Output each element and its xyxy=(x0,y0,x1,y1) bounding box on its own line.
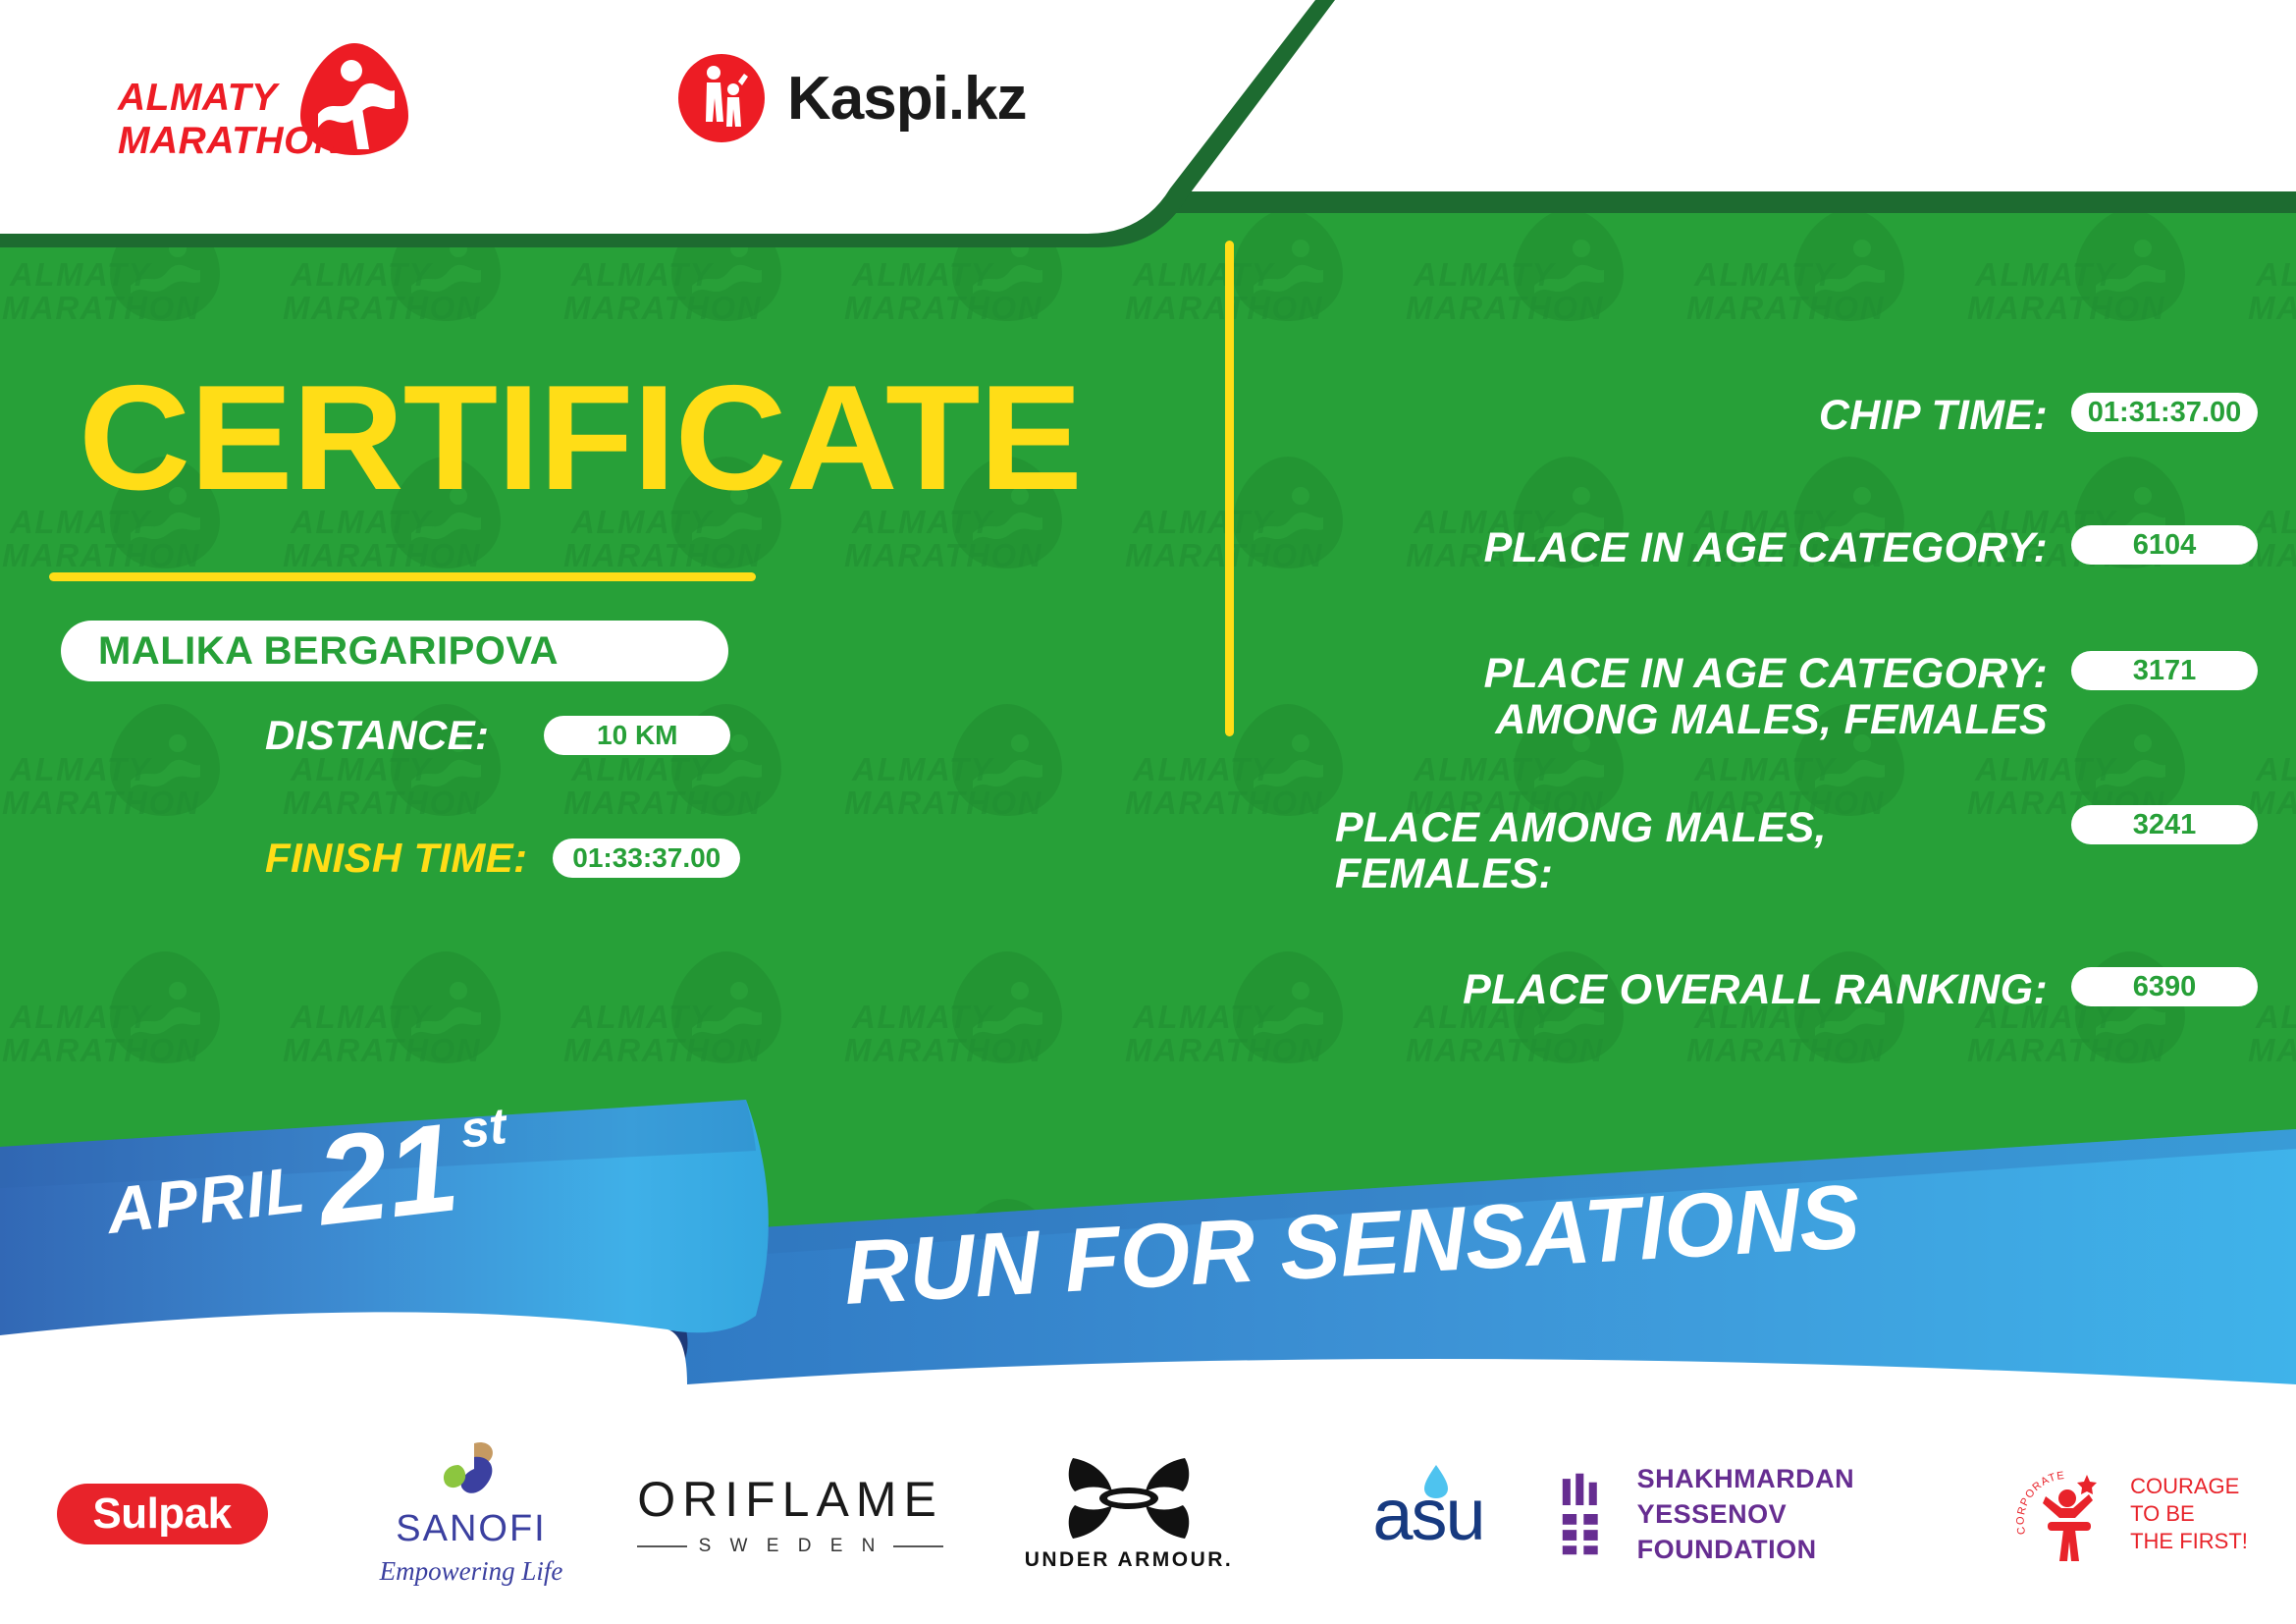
marathon-line: MARATHON xyxy=(118,120,383,163)
place-overall-label: PLACE OVERALL RANKING: xyxy=(1276,967,2071,1013)
athlete-name: MALIKA BERGARIPOVA xyxy=(98,629,559,674)
sanofi-wordmark: SANOFI xyxy=(396,1508,546,1550)
yessenov-foundation-logo: SHAKHMARDAN YESSENOV FOUNDATION xyxy=(1561,1461,1973,1567)
oriflame-wordmark: ORIFLAME xyxy=(637,1471,943,1528)
almaty-line: ALMATY xyxy=(118,77,383,120)
place-among-gender-label: PLACE AMONG MALES, FEMALES: xyxy=(1276,805,2071,897)
place-age-category-gender-row: PLACE IN AGE CATEGORY: AMONG MALES, FEMA… xyxy=(1276,651,2258,743)
divider-line-left xyxy=(637,1545,686,1547)
courage-wordmark: COURAGE TO BE THE FIRST! xyxy=(2130,1473,2248,1555)
sponsor-asu: asu xyxy=(1296,1450,1561,1578)
finish-time-value: 01:33:37.00 xyxy=(553,839,740,878)
kaspi-family-icon xyxy=(677,53,766,143)
chip-time-label: CHIP TIME: xyxy=(1276,393,2071,439)
finish-time-row: FINISH TIME: 01:33:37.00 xyxy=(265,835,740,882)
place-age-category-value: 6104 xyxy=(2071,525,2258,565)
vertical-divider xyxy=(1225,241,1234,736)
place-age-category-label: PLACE IN AGE CATEGORY: xyxy=(1276,525,2071,571)
distance-label: DISTANCE: xyxy=(265,712,489,759)
sponsor-yessenov-foundation: SHAKHMARDAN YESSENOV FOUNDATION xyxy=(1561,1450,1973,1578)
certificate-right-column: CHIP TIME: 01:31:37.00 PLACE IN AGE CATE… xyxy=(1276,191,2296,1173)
kaspi-logo: Kaspi.kz xyxy=(677,49,1027,147)
asu-droplet-icon xyxy=(1423,1465,1449,1498)
asu-logo: asu xyxy=(1372,1473,1483,1556)
under-armour-wordmark: UNDER ARMOUR. xyxy=(1025,1548,1234,1572)
under-armour-logo: UNDER ARMOUR. xyxy=(1025,1456,1234,1572)
sanofi-mark-icon xyxy=(431,1441,511,1504)
certificate-left-column: CERTIFICATE MALIKA BERGARIPOVA DISTANCE:… xyxy=(0,191,1217,1173)
sponsor-sulpak: Sulpak xyxy=(0,1450,324,1578)
under-armour-mark-icon xyxy=(1065,1456,1193,1541)
kaspi-wordmark: Kaspi.kz xyxy=(787,64,1027,134)
divider-line-right xyxy=(893,1545,942,1547)
place-among-gender-value: 3241 xyxy=(2071,805,2258,844)
courage-to-be-first-logo: CORPORATE FUND COURAGE TO BE THE FIRST! xyxy=(2012,1461,2248,1567)
yessenov-line-2: FOUNDATION xyxy=(1637,1532,1973,1567)
oriflame-sub: S W E D E N xyxy=(637,1536,943,1557)
sponsor-under-armour: UNDER ARMOUR. xyxy=(962,1450,1296,1578)
event-day: 21 xyxy=(312,1112,463,1237)
sanofi-tagline: Empowering Life xyxy=(380,1556,563,1587)
label-line-2: AMONG MALES, FEMALES xyxy=(1276,697,2048,743)
chip-time-row: CHIP TIME: 01:31:37.00 xyxy=(1276,393,2258,439)
title-underline xyxy=(49,572,756,581)
yessenov-line-1: SHAKHMARDAN YESSENOV xyxy=(1637,1461,1973,1532)
place-overall-row: PLACE OVERALL RANKING: 6390 xyxy=(1276,967,2258,1013)
sulpak-logo: Sulpak xyxy=(57,1484,268,1544)
place-age-category-gender-value: 3171 xyxy=(2071,651,2258,690)
distance-row: DISTANCE: 10 KM xyxy=(265,712,730,759)
sponsor-sanofi: SANOFI Empowering Life xyxy=(324,1450,618,1578)
chip-time-value: 01:31:37.00 xyxy=(2071,393,2258,432)
finish-time-label: FINISH TIME: xyxy=(265,835,527,882)
sponsor-oriflame: ORIFLAME S W E D E N xyxy=(618,1450,962,1578)
sponsor-bar: Sulpak SANOFI Empowering Life ORIFLAME S… xyxy=(0,1404,2296,1624)
oriflame-logo: ORIFLAME S W E D E N xyxy=(637,1471,943,1557)
courage-line-3: THE FIRST! xyxy=(2130,1528,2248,1555)
courage-line-2: TO BE xyxy=(2130,1500,2248,1528)
place-age-category-gender-label: PLACE IN AGE CATEGORY: AMONG MALES, FEMA… xyxy=(1276,651,2071,743)
certificate-page: ALMATY MARATHON AL xyxy=(0,0,2296,1624)
almaty-marathon-logo: ALMATY MARATHON xyxy=(118,39,402,162)
place-age-category-row: PLACE IN AGE CATEGORY: 6104 xyxy=(1276,525,2258,571)
header-logos: ALMATY MARATHON Kaspi.kz xyxy=(0,0,1178,192)
sponsor-courage-to-be-first: CORPORATE FUND COURAGE TO BE THE FIRST! xyxy=(1973,1450,2287,1578)
label-line-2: FEMALES: xyxy=(1335,851,2048,897)
page-title: CERTIFICATE xyxy=(79,363,1082,513)
label-line-1: PLACE AMONG MALES, xyxy=(1335,805,2048,851)
oriflame-country: S W E D E N xyxy=(699,1536,882,1557)
label-line-1: PLACE IN AGE CATEGORY: xyxy=(1276,651,2048,697)
yessenov-bars-icon xyxy=(1561,1469,1616,1559)
yessenov-wordmark: SHAKHMARDAN YESSENOV FOUNDATION xyxy=(1637,1461,1973,1567)
sanofi-logo: SANOFI Empowering Life xyxy=(380,1441,563,1587)
courage-runner-icon: CORPORATE FUND xyxy=(2012,1461,2118,1567)
place-among-gender-row: PLACE AMONG MALES, FEMALES: 3241 xyxy=(1276,805,2258,897)
almaty-marathon-wordmark: ALMATY MARATHON xyxy=(118,77,383,163)
athlete-name-pill: MALIKA BERGARIPOVA xyxy=(61,621,728,681)
distance-value: 10 KM xyxy=(544,716,730,755)
place-overall-value: 6390 xyxy=(2071,967,2258,1006)
courage-line-1: COURAGE xyxy=(2130,1473,2248,1500)
